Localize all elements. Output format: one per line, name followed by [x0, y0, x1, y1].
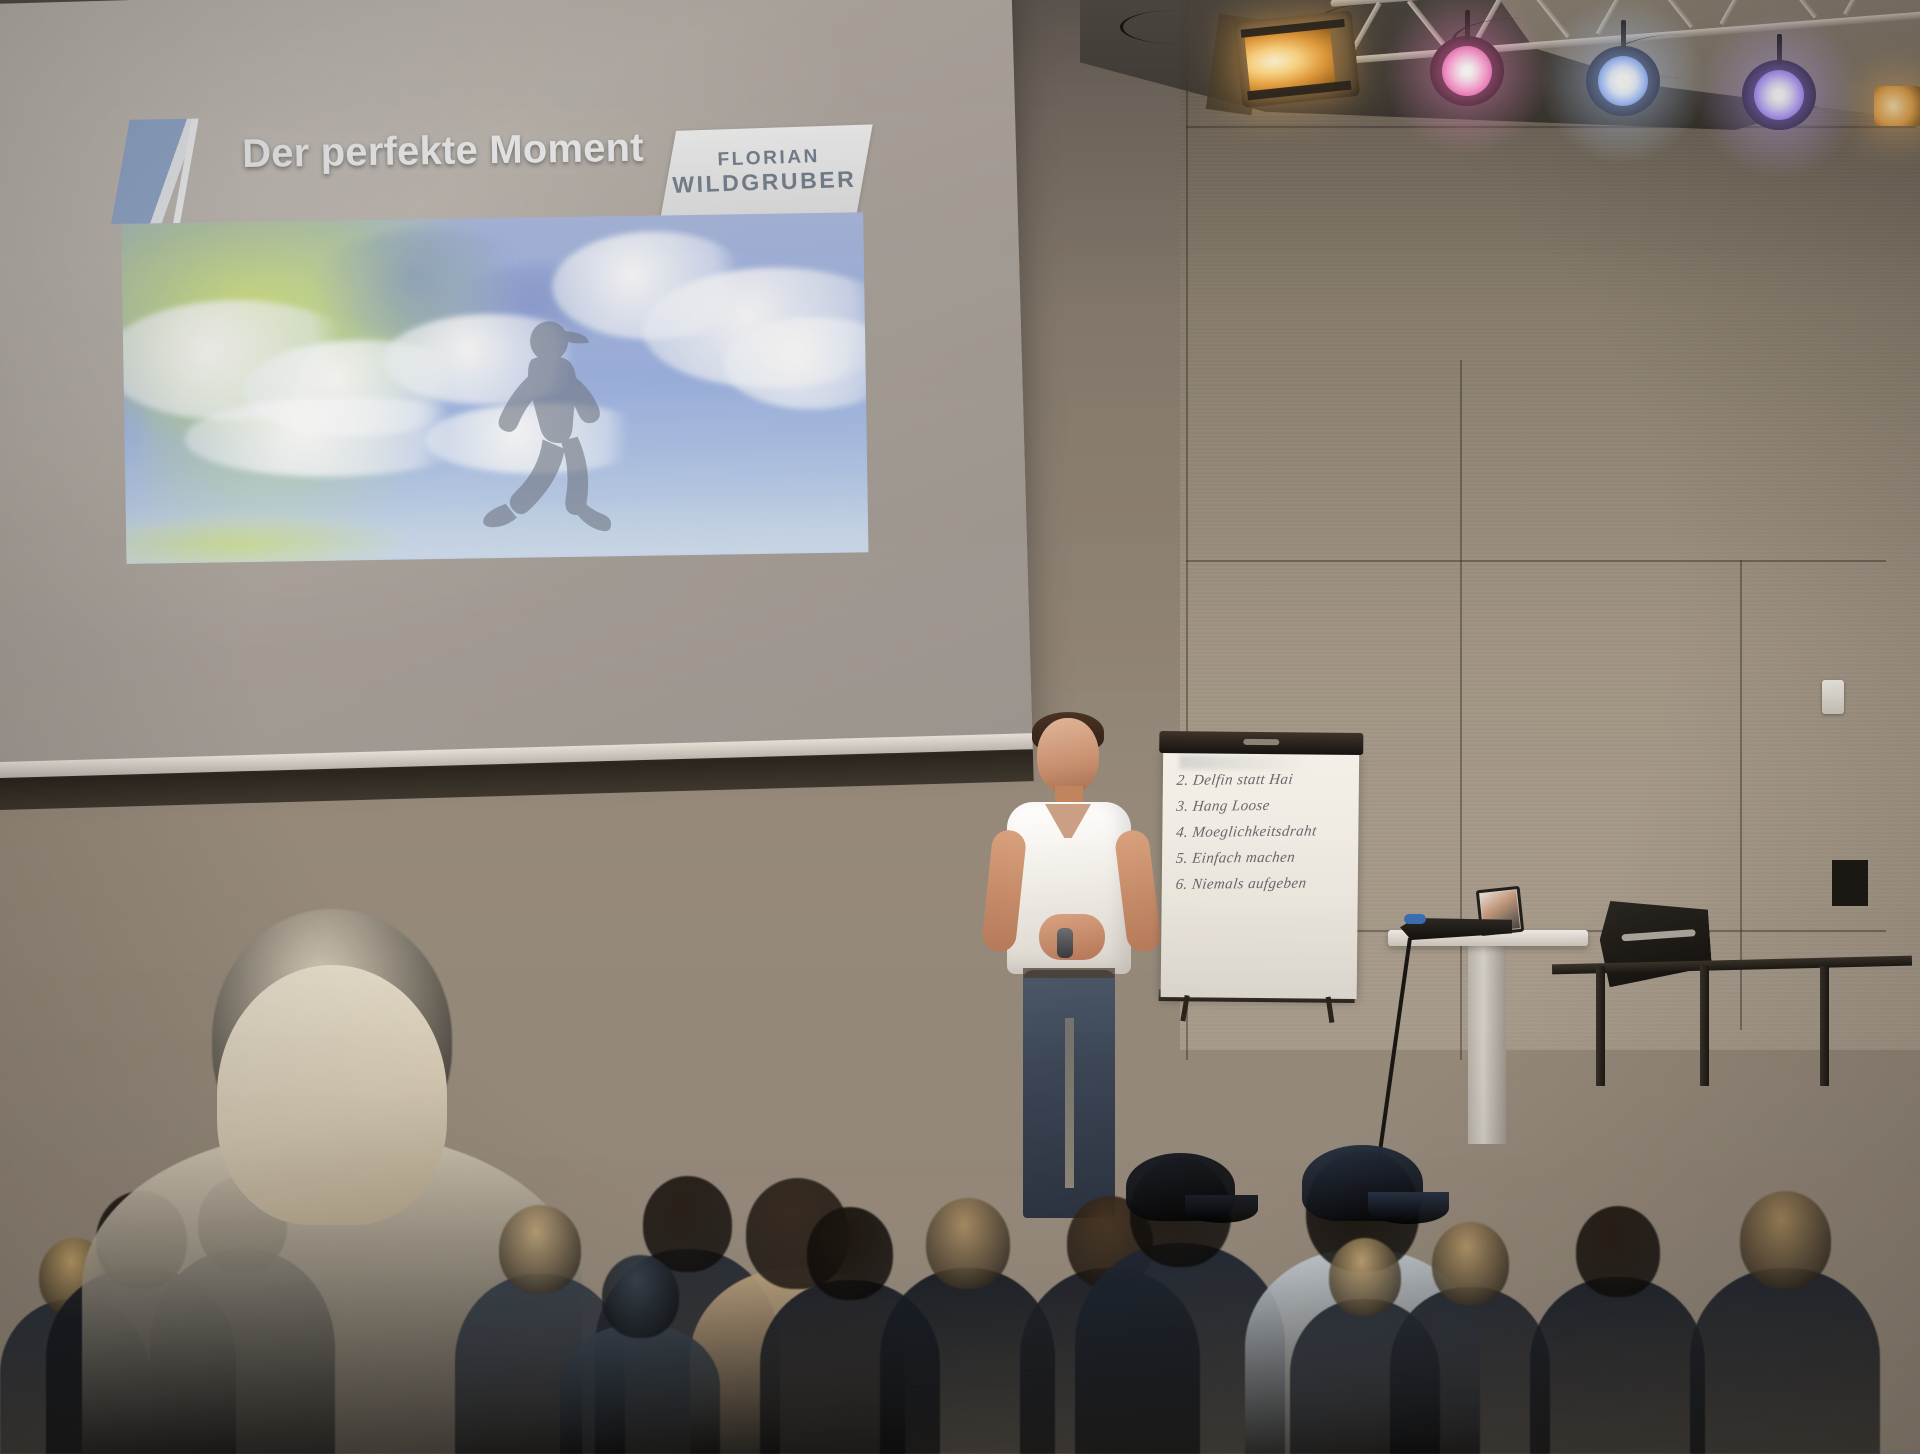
projected-slide: Der perfekte Moment FLORIAN WILDGRUBER [119, 102, 868, 564]
flipchart-line: 2. Delfin statt Hai [1176, 771, 1350, 790]
wall-seam-horizontal [1186, 560, 1886, 562]
speaker-logo: FLORIAN WILDGRUBER [660, 124, 872, 219]
audience-member [1390, 1184, 1550, 1454]
audience-member [1530, 1169, 1705, 1454]
audience-head [926, 1198, 1010, 1289]
audience-member [560, 1244, 720, 1454]
audience-head [1740, 1191, 1831, 1289]
speaker-head [1037, 718, 1099, 794]
audience-head [1576, 1206, 1660, 1297]
slide-accent-shape [111, 118, 216, 224]
par-can-pink-icon [1430, 36, 1504, 106]
logo-line-2: WILDGRUBER [672, 167, 857, 198]
audience-torso [1690, 1268, 1880, 1454]
slide-photo [121, 212, 868, 564]
flipchart-top-clamp [1159, 731, 1363, 755]
audience-head [1432, 1222, 1509, 1305]
audience [0, 794, 1920, 1454]
auditorium-photo: Der perfekte Moment FLORIAN WILDGRUBER [0, 0, 1920, 1454]
audience-torso [1390, 1287, 1550, 1454]
par-can-white-blue-icon [1586, 46, 1660, 116]
audience-torso [560, 1324, 720, 1454]
slide-title: Der perfekte Moment [242, 126, 644, 177]
audience-member [1690, 1154, 1880, 1454]
headscarf [217, 965, 447, 1225]
fresnel-spotlight-icon [1234, 10, 1360, 108]
audience-torso [1530, 1277, 1705, 1454]
projection-screen: Der perfekte Moment FLORIAN WILDGRUBER [0, 0, 1032, 765]
power-outlet-icon [1822, 680, 1844, 714]
par-can-violet-icon [1742, 60, 1816, 130]
audience-head [602, 1255, 679, 1338]
slide-header: Der perfekte Moment FLORIAN WILDGRUBER [119, 102, 863, 226]
flipchart-faded-line [1179, 755, 1309, 770]
runner-silhouette-icon [453, 314, 637, 557]
wall-warm-light-icon [1874, 86, 1920, 126]
